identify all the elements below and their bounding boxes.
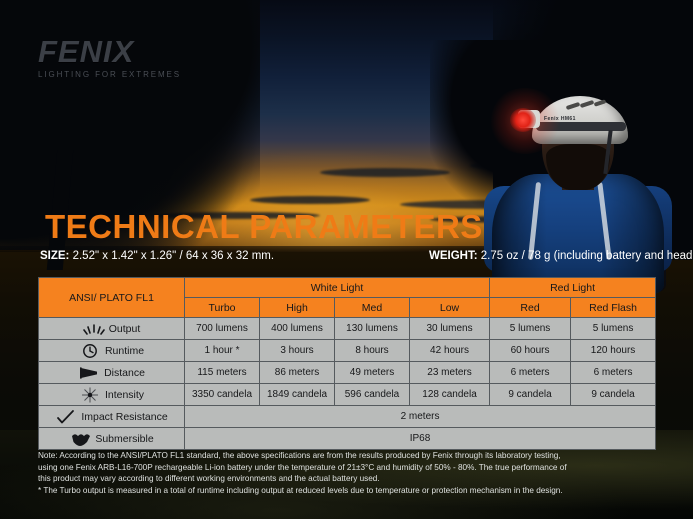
cell-intensity-red: 9 candela <box>490 384 571 406</box>
mode-header-red: Red <box>490 298 571 318</box>
mode-header-high: High <box>260 298 335 318</box>
distance-icon <box>78 365 100 381</box>
cell-output-med: 130 lumens <box>335 318 410 340</box>
cell-intensity-turbo: 3350 candela <box>185 384 260 406</box>
cell-output-low: 30 lumens <box>410 318 490 340</box>
size-value: 2.52" x 1.42" x 1.26" / 64 x 36 x 32 mm. <box>69 250 274 262</box>
cell-output-turbo: 700 lumens <box>185 318 260 340</box>
row-label-text: Runtime <box>105 345 144 357</box>
mode-header-red-flash: Red Flash <box>571 298 656 318</box>
table-row-distance: Distance 115 meters 86 meters 49 meters … <box>39 362 656 384</box>
cell-intensity-low: 128 candela <box>410 384 490 406</box>
table-row-submersible: Submersible IP68 <box>39 428 656 450</box>
group-header-red-light: Red Light <box>490 278 656 298</box>
technical-parameters-table: ANSI/ PLATO FL1 White Light Red Light Tu… <box>38 277 656 450</box>
cell-intensity-high: 1849 candela <box>260 384 335 406</box>
cell-runtime-red-flash: 120 hours <box>571 340 656 362</box>
table-row-runtime: Runtime 1 hour * 3 hours 8 hours 42 hour… <box>39 340 656 362</box>
table-row-output: Output 700 lumens 400 lumens 130 lumens … <box>39 318 656 340</box>
row-label-intensity: Intensity <box>39 384 185 406</box>
brand-tagline: LIGHTING FOR EXTREMES <box>38 70 181 79</box>
footnote-line-2: using one Fenix ARB-L16-700P rechargeabl… <box>38 462 666 474</box>
cell-distance-red-flash: 6 meters <box>571 362 656 384</box>
cell-runtime-high: 3 hours <box>260 340 335 362</box>
jacket-shading <box>492 174 664 294</box>
row-label-impact-resistance: Impact Resistance <box>39 406 185 428</box>
row-label-text: Intensity <box>105 389 144 401</box>
cell-runtime-turbo: 1 hour * <box>185 340 260 362</box>
ansi-plato-corner-label: ANSI/ PLATO FL1 <box>39 278 185 318</box>
clock-icon <box>79 343 101 359</box>
cell-output-red: 5 lumens <box>490 318 571 340</box>
row-label-text: Distance <box>104 367 145 379</box>
footnote-line-3: this product may vary according to diffe… <box>38 473 666 485</box>
row-label-runtime: Runtime <box>39 340 185 362</box>
brand-wordmark: FENIX <box>38 36 181 67</box>
cell-impact-resistance-value: 2 meters <box>185 406 656 428</box>
cell-output-high: 400 lumens <box>260 318 335 340</box>
cell-runtime-med: 8 hours <box>335 340 410 362</box>
table-row-impact-resistance: Impact Resistance 2 meters <box>39 406 656 428</box>
cell-distance-red: 6 meters <box>490 362 571 384</box>
size-spec: SIZE: 2.52" x 1.42" x 1.26" / 64 x 36 x … <box>40 250 274 262</box>
intensity-icon <box>79 387 101 403</box>
size-label: SIZE: <box>40 250 69 262</box>
row-label-text: Submersible <box>95 433 153 445</box>
footnote-line-4: * The Turbo output is measured in a tota… <box>38 485 666 497</box>
headlamp-model-text: Fenix HM61 <box>544 116 576 122</box>
cell-runtime-low: 42 hours <box>410 340 490 362</box>
mode-header-turbo: Turbo <box>185 298 260 318</box>
row-label-distance: Distance <box>39 362 185 384</box>
cell-distance-med: 49 meters <box>335 362 410 384</box>
row-label-text: Impact Resistance <box>81 411 167 423</box>
fenix-logo: FENIX LIGHTING FOR EXTREMES <box>38 36 181 79</box>
row-label-submersible: Submersible <box>39 428 185 450</box>
page-title: TECHNICAL PARAMETERS <box>45 210 483 243</box>
cloud <box>250 196 370 204</box>
product-spec-page: Fenix HM61 FENIX LIGHTING FOR EXTREMES T… <box>0 0 693 519</box>
mode-header-low: Low <box>410 298 490 318</box>
row-label-text: Output <box>109 323 141 335</box>
group-header-white-light: White Light <box>185 278 490 298</box>
submersible-icon <box>69 431 91 447</box>
footnote-block: Note: According to the ANSI/PLATO FL1 st… <box>38 450 666 496</box>
weight-spec: WEIGHT: 2.75 oz / 78 g (including batter… <box>429 250 693 262</box>
output-icon <box>83 321 105 337</box>
table-row-intensity: Intensity 3350 candela 1849 candela 596 … <box>39 384 656 406</box>
cell-runtime-red: 60 hours <box>490 340 571 362</box>
cell-submersible-value: IP68 <box>185 428 656 450</box>
cell-distance-high: 86 meters <box>260 362 335 384</box>
footnote-line-1: Note: According to the ANSI/PLATO FL1 st… <box>38 450 666 462</box>
weight-label: WEIGHT: <box>429 250 478 262</box>
table-group-header-row: ANSI/ PLATO FL1 White Light Red Light <box>39 278 656 298</box>
row-label-output: Output <box>39 318 185 340</box>
impact-icon <box>55 409 77 425</box>
cell-intensity-red-flash: 9 candela <box>571 384 656 406</box>
weight-value: 2.75 oz / 78 g (including battery and he… <box>478 250 693 262</box>
cell-output-red-flash: 5 lumens <box>571 318 656 340</box>
cell-distance-low: 23 meters <box>410 362 490 384</box>
cell-distance-turbo: 115 meters <box>185 362 260 384</box>
cell-intensity-med: 596 candela <box>335 384 410 406</box>
mode-header-med: Med <box>335 298 410 318</box>
red-led-icon <box>510 108 536 132</box>
